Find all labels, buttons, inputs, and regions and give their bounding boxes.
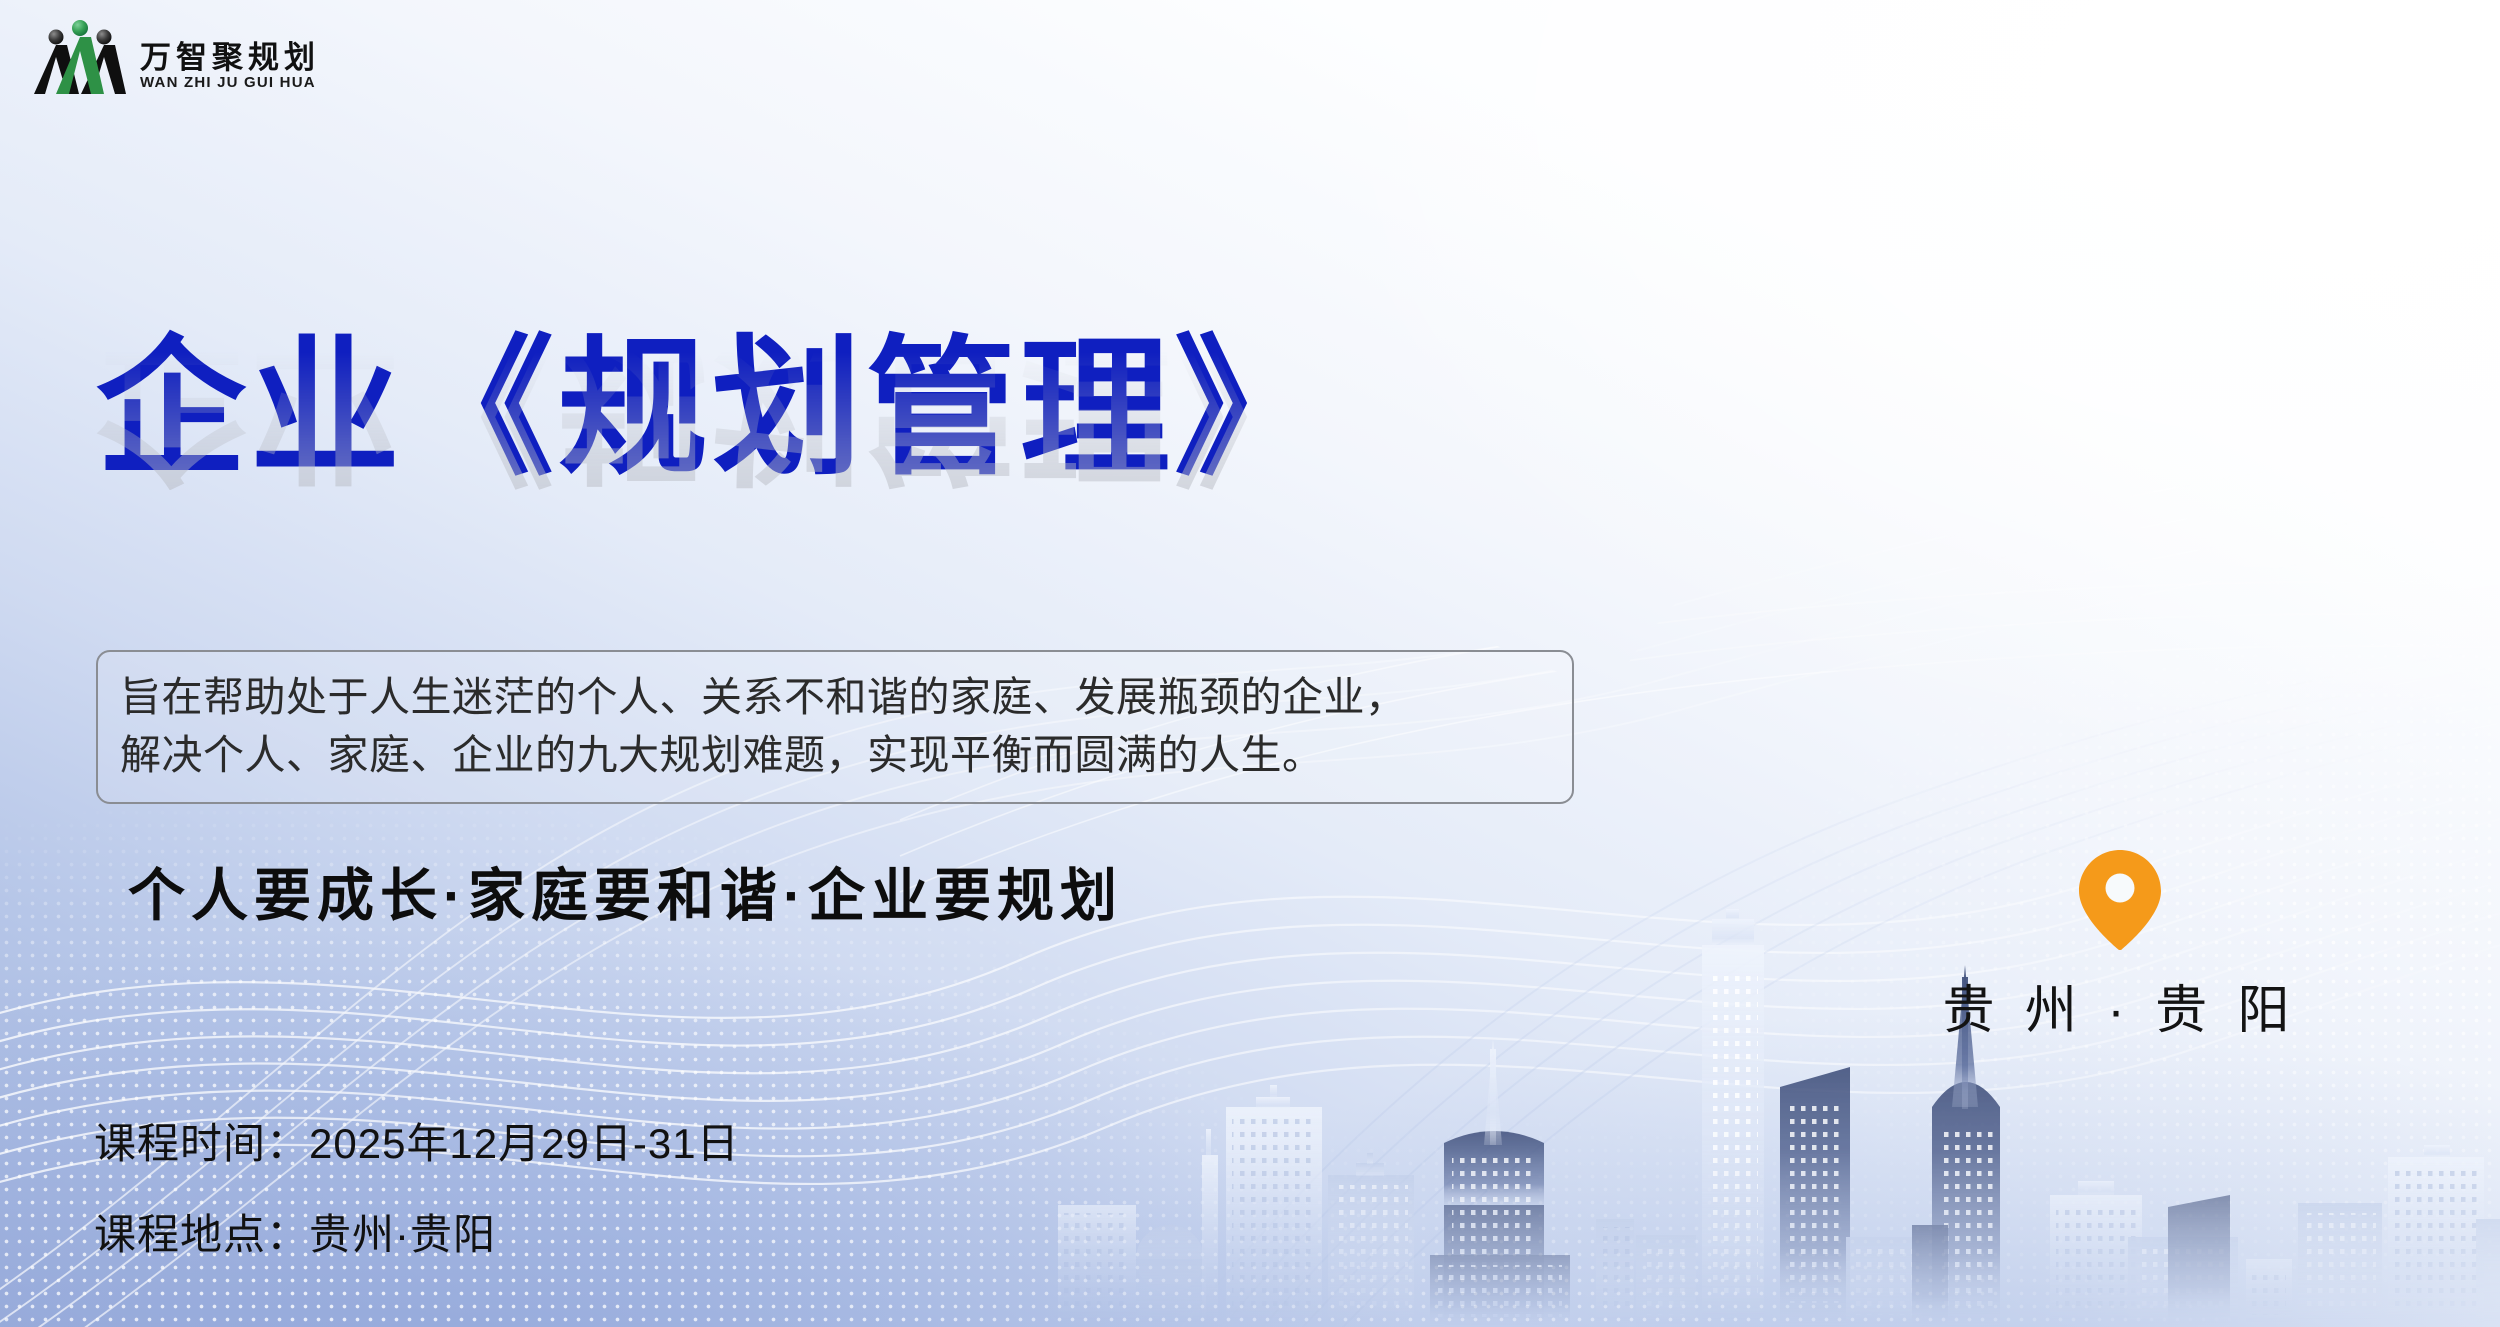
description-line-1: 旨在帮助处于人生迷茫的个人、关系不和谐的家庭、发展瓶颈的企业，: [120, 668, 1550, 726]
page-title-reflection: 企业《规划管理》: [96, 332, 1328, 490]
course-time-line: 课程时间：2025年12月29日-31日: [94, 1110, 740, 1171]
poster-canvas: 万智聚规划 WAN ZHI JU GUI HUA 企业《规划管理》 企业《规划管…: [0, 0, 2500, 1327]
three-people-logo-icon: [34, 14, 126, 94]
description-line-2: 解决个人、家庭、企业的九大规划难题，实现平衡而圆满的人生。: [120, 726, 1550, 784]
slogan-text: 个人要成长·家庭要和谐·企业要规划: [128, 850, 1123, 932]
location-label: 贵 州 · 贵 阳: [1942, 968, 2297, 1043]
description-box: 旨在帮助处于人生迷茫的个人、关系不和谐的家庭、发展瓶颈的企业， 解决个人、家庭、…: [96, 650, 1574, 804]
hero-title-block: 企业《规划管理》 企业《规划管理》: [96, 330, 1328, 647]
course-info-block: 课程时间：2025年12月29日-31日 课程地点：贵州·贵阳: [94, 1110, 740, 1262]
location-badge: 贵 州 · 贵 阳: [1960, 850, 2280, 1043]
brand-name-en: WAN ZHI JU GUI HUA: [140, 75, 320, 90]
map-pin-icon: [2079, 850, 2161, 950]
brand-logo[interactable]: 万智聚规划 WAN ZHI JU GUI HUA: [34, 14, 320, 94]
course-place-line: 课程地点：贵州·贵阳: [94, 1201, 740, 1262]
brand-name-cn: 万智聚规划: [140, 42, 320, 73]
